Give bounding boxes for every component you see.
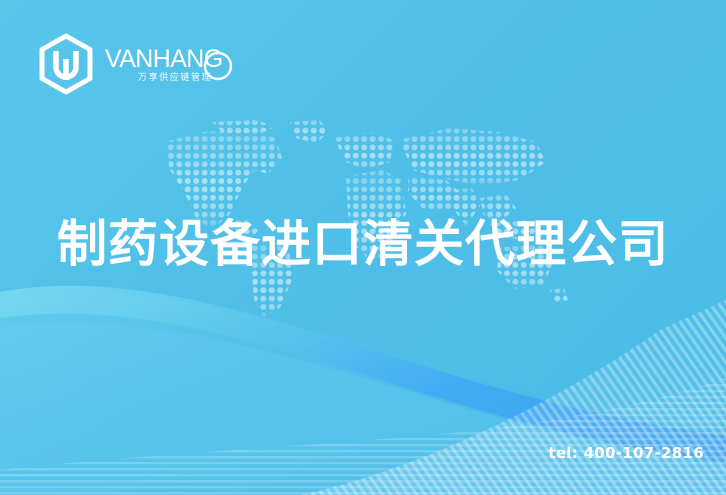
vanhang-hexagon-icon [36,33,96,95]
headline-title: 制药设备进口清关代理公司 [0,213,726,275]
company-logo[interactable]: VANHANG 万享供应链管理 [36,30,256,98]
promotional-banner: VANHANG 万享供应链管理 制药设备进口清关代理公司 tel: 400-10… [0,0,726,495]
logo-wordmark: VANHANG 万享供应链管理 [105,40,243,88]
contact-phone: tel: 400-107-2816 [548,443,704,463]
logo-subtitle-text: 万享供应链管理 [138,71,212,83]
